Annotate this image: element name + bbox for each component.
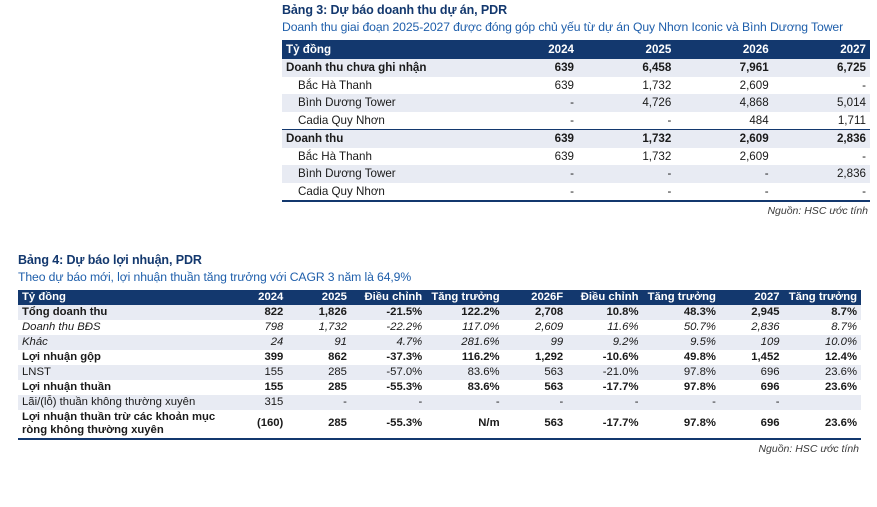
table-3-col-2026: 2026 [675, 40, 772, 60]
table-4-header-row: Tỷ đồng 2024 2025 Điều chỉnh Tăng trưởng… [18, 290, 861, 305]
row-value: - [481, 94, 578, 112]
row-value: 1,732 [578, 77, 675, 95]
row-value: 1,292 [504, 350, 568, 365]
row-value: 696 [720, 380, 784, 395]
table-4-title: Bảng 4: Dự báo lợi nhuận, PDR [18, 252, 861, 268]
table-4-col-2025: 2025 [287, 290, 351, 305]
row-label: Doanh thu chưa ghi nhận [282, 59, 481, 77]
table-4-col-growth-2026: Tăng trưởng [643, 290, 720, 305]
row-value: 97.8% [643, 410, 720, 439]
row-label: Bắc Hà Thanh [282, 148, 481, 166]
row-value: 285 [287, 365, 351, 380]
row-value: -10.6% [567, 350, 642, 365]
table-row: Doanh thu BĐS7981,732-22.2%117.0%2,60911… [18, 320, 861, 335]
table-row: Lợi nhuận thuần trừ các khoản mục ròng k… [18, 410, 861, 439]
row-value: - [578, 165, 675, 183]
row-value: 2,609 [675, 148, 772, 166]
row-value: -17.7% [567, 410, 642, 439]
table-3-col-2024: 2024 [481, 40, 578, 60]
row-label: Lợi nhuận thuần [18, 380, 224, 395]
row-label: Cadia Quy Nhơn [282, 183, 481, 201]
table-3-title: Bảng 3: Dự báo doanh thu dự án, PDR [282, 2, 870, 18]
table-4-source-note: Nguồn: HSC ước tính [18, 439, 861, 455]
row-value [784, 395, 861, 410]
row-value: -55.3% [351, 380, 426, 395]
row-value: 822 [224, 305, 288, 320]
row-label: Tổng doanh thu [18, 305, 224, 320]
row-label: Khác [18, 335, 224, 350]
row-value: 8.7% [784, 305, 861, 320]
row-value: 97.8% [643, 380, 720, 395]
row-value: -21.0% [567, 365, 642, 380]
table-row: Lợi nhuận gộp399862-37.3%116.2%1,292-10.… [18, 350, 861, 365]
row-value: 8.7% [784, 320, 861, 335]
table-row: Cadia Quy Nhơn--4841,711 [282, 112, 870, 130]
row-value: 6,725 [773, 59, 870, 77]
row-label: Lợi nhuận gộp [18, 350, 224, 365]
row-value: -17.7% [567, 380, 642, 395]
row-value: - [675, 165, 772, 183]
table-3-header-row: Tỷ đồng 2024 2025 2026 2027 [282, 40, 870, 60]
row-value: 281.6% [426, 335, 503, 350]
row-value: 83.6% [426, 380, 503, 395]
row-value: - [426, 395, 503, 410]
table-3-subtitle: Doanh thu giai đoạn 2025-2027 được đóng … [282, 20, 870, 36]
report-tables-page: Bảng 3: Dự báo doanh thu dự án, PDR Doan… [0, 0, 877, 507]
row-value: 2,836 [773, 130, 870, 148]
row-value: (160) [224, 410, 288, 439]
row-value: 639 [481, 59, 578, 77]
row-label: Lợi nhuận thuần trừ các khoản mục ròng k… [18, 410, 224, 439]
row-value: N/m [426, 410, 503, 439]
row-value: - [481, 165, 578, 183]
row-value: 23.6% [784, 410, 861, 439]
row-label: Doanh thu [282, 130, 481, 148]
row-value: 315 [224, 395, 288, 410]
row-value: 24 [224, 335, 288, 350]
row-value: - [481, 112, 578, 130]
table-3-block: Bảng 3: Dự báo doanh thu dự án, PDR Doan… [282, 2, 870, 217]
table-row: Doanh thu6391,7322,6092,836 [282, 130, 870, 148]
row-value: 399 [224, 350, 288, 365]
row-label: Lãi/(lỗ) thuần không thường xuyên [18, 395, 224, 410]
row-value: 117.0% [426, 320, 503, 335]
table-4-col-growth-2027: Tăng trưởng [784, 290, 861, 305]
table-row: Doanh thu chưa ghi nhận6396,4587,9616,72… [282, 59, 870, 77]
table-row: Bắc Hà Thanh6391,7322,609- [282, 77, 870, 95]
row-value: 285 [287, 380, 351, 395]
table-4-col-adjust-2026: Điều chỉnh [567, 290, 642, 305]
row-value: 1,732 [578, 130, 675, 148]
row-value: -57.0% [351, 365, 426, 380]
table-4-block: Bảng 4: Dự báo lợi nhuận, PDR Theo dự bá… [18, 252, 861, 455]
row-value: 6,458 [578, 59, 675, 77]
row-value: 97.8% [643, 365, 720, 380]
row-value: 639 [481, 148, 578, 166]
row-value: 23.6% [784, 380, 861, 395]
table-row: Khác24914.7%281.6%999.2%9.5%10910.0% [18, 335, 861, 350]
table-4-col-2024: 2024 [224, 290, 288, 305]
row-value: 285 [287, 410, 351, 439]
row-value: - [351, 395, 426, 410]
row-value: 1,732 [578, 148, 675, 166]
row-value: 4.7% [351, 335, 426, 350]
row-value: - [481, 183, 578, 201]
row-value: -22.2% [351, 320, 426, 335]
row-value: - [675, 183, 772, 201]
table-4-col-2026f: 2026F [504, 290, 568, 305]
row-value: -55.3% [351, 410, 426, 439]
table-3-header: Tỷ đồng 2024 2025 2026 2027 [282, 40, 870, 60]
row-value: 12.4% [784, 350, 861, 365]
row-value: 7,961 [675, 59, 772, 77]
table-row: Bình Dương Tower-4,7264,8685,014 [282, 94, 870, 112]
table-4-subtitle: Theo dự báo mới, lợi nhuận thuần tăng tr… [18, 270, 861, 286]
table-4-col-adjust-2025: Điều chỉnh [351, 290, 426, 305]
row-value: 484 [675, 112, 772, 130]
row-label: Doanh thu BĐS [18, 320, 224, 335]
row-value: 2,609 [675, 130, 772, 148]
table-4: Tỷ đồng 2024 2025 Điều chỉnh Tăng trưởng… [18, 290, 861, 439]
row-value: 2,609 [675, 77, 772, 95]
row-value: - [287, 395, 351, 410]
table-row: Lợi nhuận thuần155285-55.3%83.6%563-17.7… [18, 380, 861, 395]
row-value: - [578, 112, 675, 130]
row-value: 10.0% [784, 335, 861, 350]
table-3-col-unit: Tỷ đồng [282, 40, 481, 60]
row-value: 83.6% [426, 365, 503, 380]
row-value: - [567, 395, 642, 410]
row-value: 1,732 [287, 320, 351, 335]
row-value: 91 [287, 335, 351, 350]
row-value: 23.6% [784, 365, 861, 380]
row-value: - [504, 395, 568, 410]
row-value: 1,826 [287, 305, 351, 320]
row-value: 639 [481, 130, 578, 148]
table-3-col-2027: 2027 [773, 40, 870, 60]
row-value: - [643, 395, 720, 410]
row-value: - [773, 148, 870, 166]
row-value: - [578, 183, 675, 201]
row-label: Bình Dương Tower [282, 94, 481, 112]
row-value: 2,609 [504, 320, 568, 335]
row-value: 2,836 [773, 165, 870, 183]
row-value: - [773, 77, 870, 95]
row-value: 99 [504, 335, 568, 350]
table-3: Tỷ đồng 2024 2025 2026 2027 Doanh thu ch… [282, 40, 870, 202]
table-row: Tổng doanh thu8221,826-21.5%122.2%2,7081… [18, 305, 861, 320]
row-value: 10.8% [567, 305, 642, 320]
table-4-col-growth-2025: Tăng trưởng [426, 290, 503, 305]
row-value: 696 [720, 410, 784, 439]
row-value: 2,945 [720, 305, 784, 320]
row-value: 116.2% [426, 350, 503, 365]
table-4-col-2027: 2027 [720, 290, 784, 305]
row-value: 155 [224, 365, 288, 380]
row-label: Bắc Hà Thanh [282, 77, 481, 95]
row-value: 155 [224, 380, 288, 395]
row-value: 563 [504, 380, 568, 395]
row-value: 696 [720, 365, 784, 380]
row-label: LNST [18, 365, 224, 380]
row-value: 4,868 [675, 94, 772, 112]
table-row: LNST155285-57.0%83.6%563-21.0%97.8%69623… [18, 365, 861, 380]
table-4-header: Tỷ đồng 2024 2025 Điều chỉnh Tăng trưởng… [18, 290, 861, 305]
row-value: 563 [504, 365, 568, 380]
row-value: -21.5% [351, 305, 426, 320]
row-value: -37.3% [351, 350, 426, 365]
row-value: 9.2% [567, 335, 642, 350]
table-3-col-2025: 2025 [578, 40, 675, 60]
row-value: - [773, 183, 870, 201]
row-value: 9.5% [643, 335, 720, 350]
row-value: 798 [224, 320, 288, 335]
table-row: Bình Dương Tower---2,836 [282, 165, 870, 183]
table-4-body: Tổng doanh thu8221,826-21.5%122.2%2,7081… [18, 305, 861, 439]
row-value: 639 [481, 77, 578, 95]
row-value: 4,726 [578, 94, 675, 112]
row-value: 1,452 [720, 350, 784, 365]
row-label: Bình Dương Tower [282, 165, 481, 183]
table-row: Lãi/(lỗ) thuần không thường xuyên315----… [18, 395, 861, 410]
row-value: 2,836 [720, 320, 784, 335]
row-value: 5,014 [773, 94, 870, 112]
table-3-source-note: Nguồn: HSC ước tính [282, 201, 870, 217]
row-value: 49.8% [643, 350, 720, 365]
table-3-body: Doanh thu chưa ghi nhận6396,4587,9616,72… [282, 59, 870, 201]
row-label: Cadia Quy Nhơn [282, 112, 481, 130]
row-value: 2,708 [504, 305, 568, 320]
row-value: 48.3% [643, 305, 720, 320]
row-value: 11.6% [567, 320, 642, 335]
row-value: 122.2% [426, 305, 503, 320]
table-4-col-unit: Tỷ đồng [18, 290, 224, 305]
row-value: 50.7% [643, 320, 720, 335]
table-row: Cadia Quy Nhơn---- [282, 183, 870, 201]
row-value: 1,711 [773, 112, 870, 130]
table-row: Bắc Hà Thanh6391,7322,609- [282, 148, 870, 166]
row-value: 109 [720, 335, 784, 350]
row-value: - [720, 395, 784, 410]
row-value: 862 [287, 350, 351, 365]
row-value: 563 [504, 410, 568, 439]
